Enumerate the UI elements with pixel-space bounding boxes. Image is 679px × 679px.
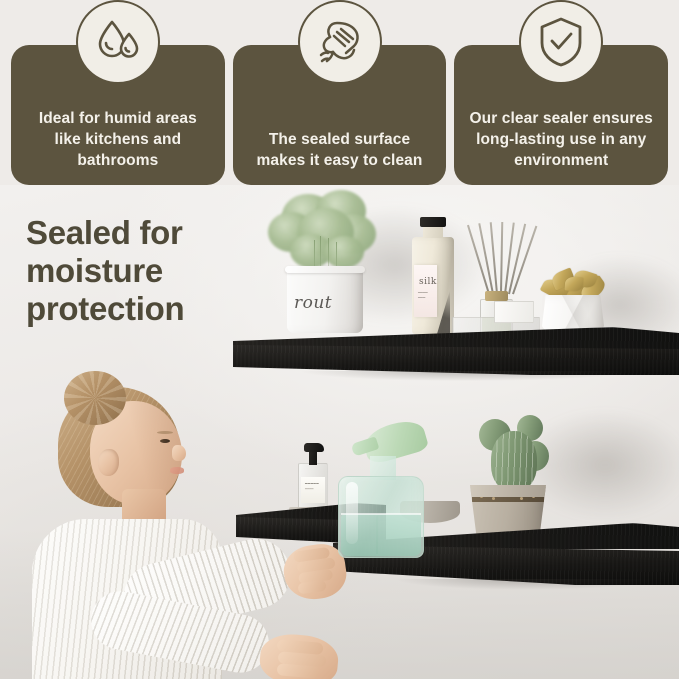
nose xyxy=(172,445,186,461)
hand-wiping-cloth-icon xyxy=(298,0,382,84)
cream-bottle: silk ━━━━━━━ xyxy=(412,237,454,334)
water-drops-icon xyxy=(76,0,160,84)
lower-hand xyxy=(258,632,340,679)
feature-card-text: Ideal for humid areas like kitchens and … xyxy=(11,108,225,171)
cactus-plant xyxy=(477,413,551,493)
feature-card-clear-sealer: Our clear sealer ensures long-lasting us… xyxy=(454,45,668,185)
page-title: Sealed for moisture protection xyxy=(26,214,266,328)
bottle-cap xyxy=(420,217,446,227)
feature-card-row: Ideal for humid areas like kitchens and … xyxy=(0,0,679,190)
diffuser-collar xyxy=(485,291,508,301)
tray-card xyxy=(494,301,534,323)
shield-check-icon xyxy=(519,0,603,84)
spray-highlight xyxy=(346,482,358,544)
eye xyxy=(160,439,170,443)
pot-rim xyxy=(285,266,365,273)
potted-greenery xyxy=(262,190,390,272)
product-infographic: rout silk ━━━━━━━ xyxy=(0,0,679,679)
ear xyxy=(98,449,119,476)
feature-card-easy-clean: The sealed surface makes it easy to clea… xyxy=(233,45,447,185)
bottle-label-text: silk xyxy=(419,277,437,287)
feature-card-text: Our clear sealer ensures long-lasting us… xyxy=(454,108,668,171)
bottle-label: silk ━━━━━━━ xyxy=(414,265,437,317)
lips xyxy=(170,467,184,474)
spray-bottle xyxy=(330,420,442,560)
feature-card-humid-areas: Ideal for humid areas like kitchens and … xyxy=(11,45,225,185)
white-pot: rout xyxy=(287,266,363,333)
pot-script-text: rout xyxy=(294,293,332,313)
bottle-label-subtext: ━━━━━━━ xyxy=(418,290,428,300)
hair-bun-swirl xyxy=(64,371,126,425)
feature-card-text: The sealed surface makes it easy to clea… xyxy=(233,129,447,171)
eyebrow xyxy=(157,431,173,434)
pot-rim xyxy=(465,484,551,497)
